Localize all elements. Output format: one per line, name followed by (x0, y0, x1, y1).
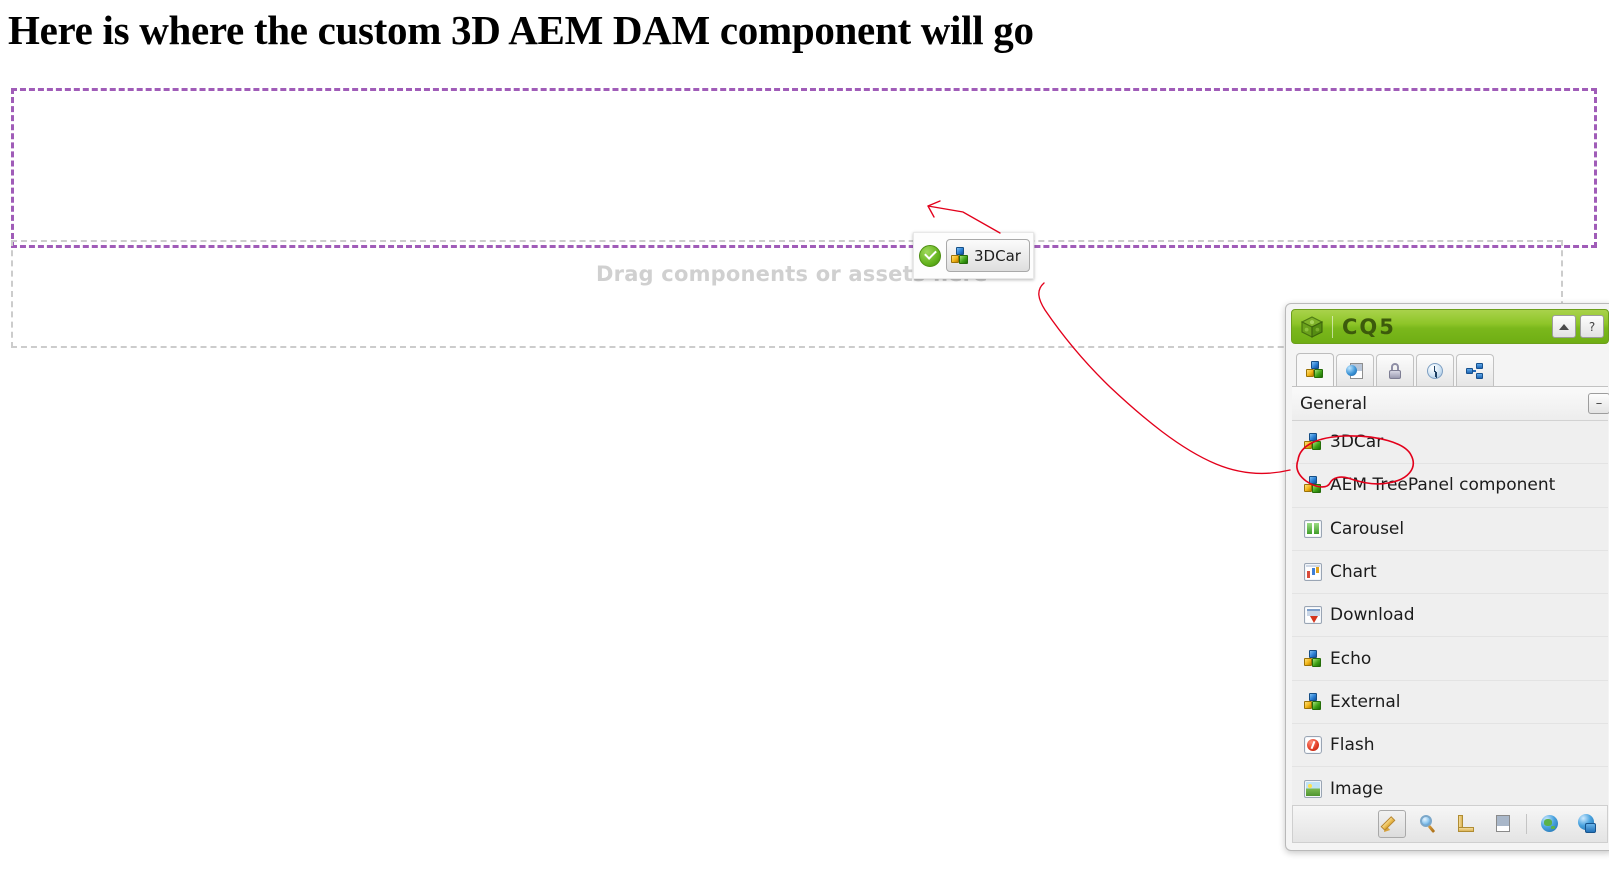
list-item[interactable]: Chart (1292, 551, 1608, 594)
component-list[interactable]: 3DCar AEM TreePanel component Carousel C… (1292, 421, 1608, 809)
globe-arrow-icon (1577, 814, 1597, 834)
tab-timeline[interactable] (1416, 354, 1454, 386)
list-item[interactable]: 3DCar (1292, 421, 1608, 464)
tab-workflow[interactable] (1456, 354, 1494, 386)
list-item[interactable]: Flash (1292, 724, 1608, 767)
green-check-icon (919, 245, 941, 267)
list-item[interactable]: External (1292, 681, 1608, 724)
list-item[interactable]: Download (1292, 594, 1608, 637)
design-mode-button[interactable] (1452, 810, 1480, 838)
component-label: AEM TreePanel component (1330, 475, 1555, 495)
cq5-sidekick-panel[interactable]: CQ5 ? General – (1285, 303, 1609, 851)
image-icon (1304, 780, 1322, 798)
list-item[interactable]: AEM TreePanel component (1292, 464, 1608, 507)
drag-ghost-label: 3DCar (974, 247, 1021, 265)
sidekick-tabs (1292, 352, 1608, 387)
publish-button[interactable] (1536, 810, 1564, 838)
document-icon (1493, 814, 1513, 834)
component-label: External (1330, 692, 1401, 712)
component-group-label: General (1300, 394, 1367, 414)
sidekick-window-buttons: ? (1552, 315, 1604, 338)
list-item[interactable]: Carousel (1292, 508, 1608, 551)
component-label: Chart (1330, 562, 1377, 582)
toolbar-divider (1526, 814, 1527, 834)
drag-ghost[interactable]: 3DCar (913, 232, 1034, 279)
collapse-button[interactable] (1552, 315, 1576, 338)
help-button[interactable]: ? (1580, 315, 1604, 338)
component-group-header[interactable]: General – (1292, 387, 1608, 421)
component-label: Download (1330, 605, 1415, 625)
titlebar-divider (1332, 316, 1333, 338)
preview-mode-button[interactable] (1415, 810, 1443, 838)
chart-icon (1304, 563, 1322, 581)
component-label: 3DCar (1330, 432, 1383, 452)
tab-page[interactable] (1336, 354, 1374, 386)
page-title: Here is where the custom 3D AEM DAM comp… (8, 6, 1034, 54)
flash-icon (1304, 736, 1322, 754)
lock-icon (1386, 362, 1404, 380)
component-group-collapse-button[interactable]: – (1588, 393, 1609, 414)
cubes-icon (1304, 650, 1322, 668)
component-label: Echo (1330, 649, 1371, 669)
download-icon (1304, 606, 1322, 624)
globe-icon (1540, 814, 1560, 834)
chevron-up-icon (1559, 324, 1569, 330)
ruler-icon (1456, 814, 1476, 834)
unpublish-button[interactable] (1573, 810, 1601, 838)
magnifier-icon (1419, 814, 1439, 834)
page-globe-icon (1346, 362, 1364, 380)
cq5-cube-logo-icon (1300, 315, 1324, 339)
component-label: Flash (1330, 735, 1375, 755)
annotate-mode-button[interactable] (1489, 810, 1517, 838)
list-item[interactable]: Echo (1292, 637, 1608, 680)
drag-ghost-chip: 3DCar (946, 239, 1030, 272)
workflow-icon (1466, 362, 1484, 380)
component-label: Carousel (1330, 519, 1404, 539)
clock-icon (1426, 362, 1444, 380)
sidekick-titlebar[interactable]: CQ5 ? (1291, 309, 1609, 344)
sidekick-brand-label: CQ5 (1342, 315, 1396, 339)
cubes-icon (1304, 433, 1322, 451)
tab-components[interactable] (1296, 353, 1334, 386)
pencil-icon (1382, 814, 1402, 834)
cubes-icon (1304, 476, 1322, 494)
cubes-icon (1306, 361, 1324, 379)
component-label: Image (1330, 779, 1383, 799)
tab-versioning[interactable] (1376, 354, 1414, 386)
cubes-icon (1304, 693, 1322, 711)
cubes-icon (951, 247, 969, 265)
list-item[interactable]: Image (1292, 767, 1608, 809)
sidekick-bottom-toolbar (1292, 805, 1608, 843)
dropzone-highlight-outline[interactable] (11, 88, 1597, 248)
carousel-icon (1304, 520, 1322, 538)
edit-mode-button[interactable] (1378, 810, 1406, 838)
